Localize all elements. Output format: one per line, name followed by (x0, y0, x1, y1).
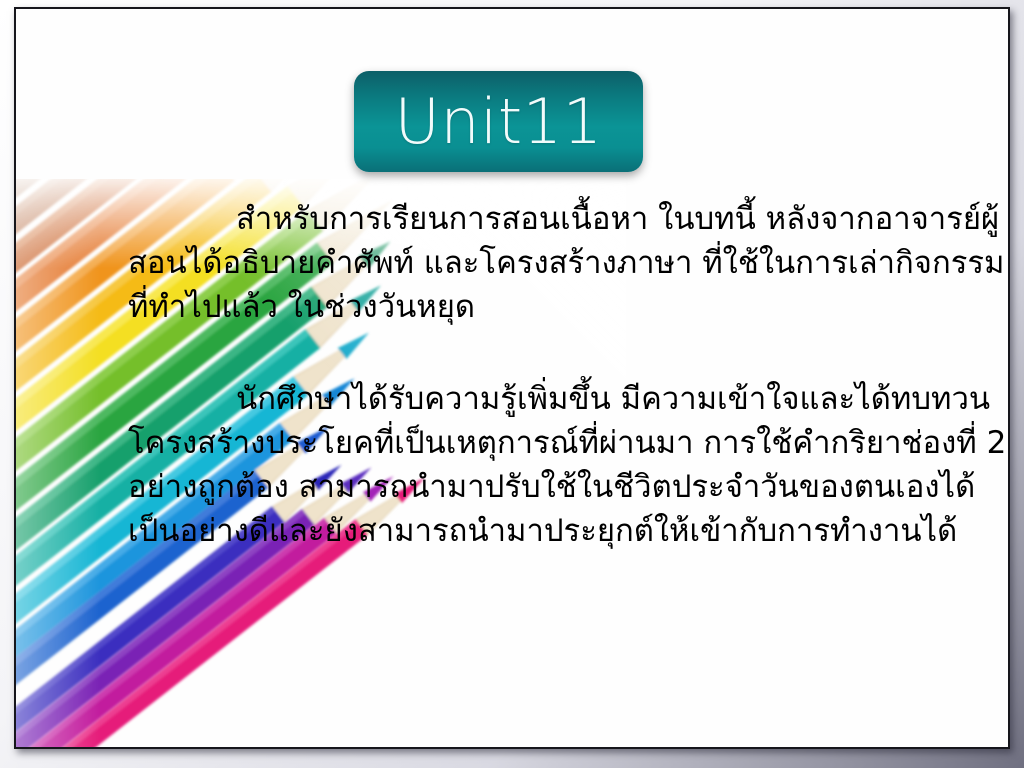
paragraph-2: นักศึกษาได้รับความรู้เพิ่มขึ้น มีความเข้… (128, 377, 1008, 553)
slide-title: Unit11 (394, 91, 602, 153)
paragraph-1: สำหรับการเรียนการสอนเนื้อหา ในบทนี้ หลัง… (128, 197, 1008, 329)
paragraph-spacer (128, 329, 1008, 377)
slide-frame: Unit11 สำหรับการเรียนการสอนเนื้อหา ในบทน… (14, 7, 1010, 749)
title-badge: Unit11 (354, 71, 643, 172)
slide-root: Unit11 สำหรับการเรียนการสอนเนื้อหา ในบทน… (0, 0, 1024, 768)
slide-body: สำหรับการเรียนการสอนเนื้อหา ในบทนี้ หลัง… (128, 197, 1008, 553)
slide-canvas: Unit11 สำหรับการเรียนการสอนเนื้อหา ในบทน… (16, 9, 1008, 747)
